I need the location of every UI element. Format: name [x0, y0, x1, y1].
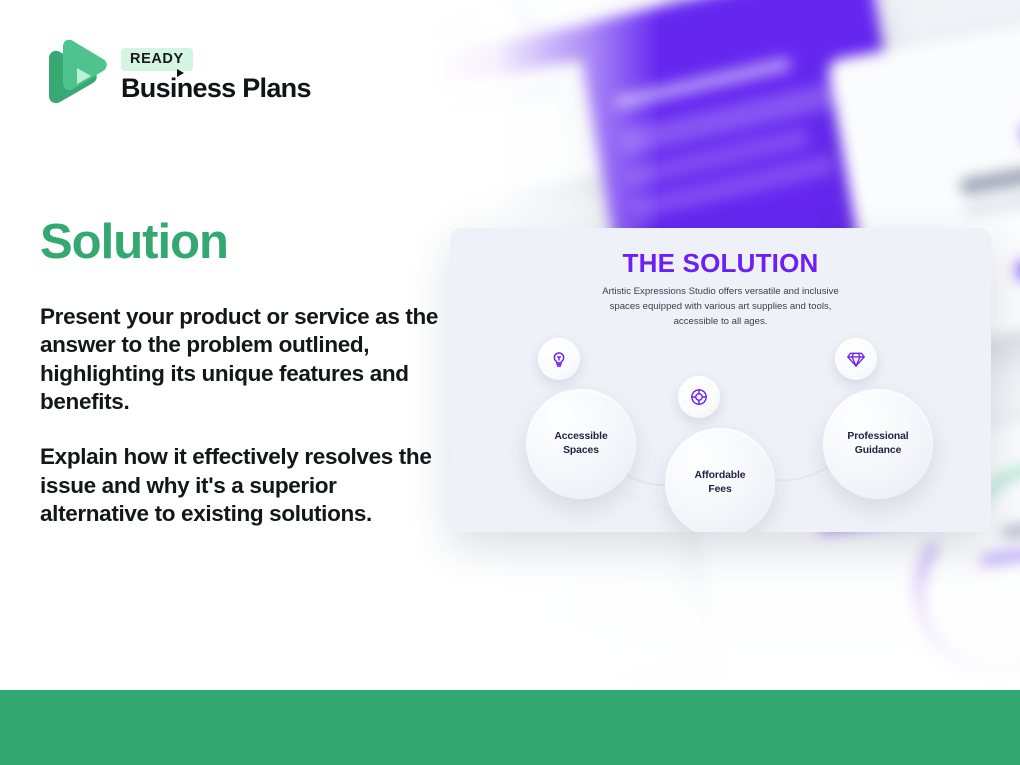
feature-icon-badge-affordable-fees — [678, 376, 720, 418]
feature-label-line-2: Fees — [708, 484, 731, 495]
feature-label-line-2: Guidance — [855, 445, 902, 456]
feature-label-line-2: Spaces — [563, 445, 599, 456]
play-triangle-accent-icon — [177, 69, 184, 77]
feature-bubble-label: Affordable Fees — [695, 469, 746, 496]
brand-wordmark: Business Plans — [121, 74, 311, 102]
play-triangles-logo-icon — [41, 38, 107, 112]
feature-label-line-1: Accessible — [554, 431, 607, 442]
solution-preview-card: THE SOLUTION Artistic Expressions Studio… — [450, 228, 991, 532]
feature-label-line-1: Affordable — [695, 470, 746, 481]
feature-bubble-label: Accessible Spaces — [554, 430, 607, 457]
brand-wordmark-text: Business Plans — [121, 73, 311, 103]
feature-bubble-affordable-fees[interactable]: Affordable Fees — [665, 428, 775, 532]
body-copy: Present your product or service as the a… — [40, 303, 440, 528]
lightbulb-icon — [549, 349, 569, 369]
ready-badge: READY — [121, 48, 193, 71]
feature-bubble-accessible-spaces[interactable]: Accessible Spaces — [526, 389, 636, 499]
presentation-slide: READY Business Plans Solution Present yo… — [0, 0, 1020, 765]
feature-bubble-professional-guidance[interactable]: Professional Guidance — [823, 389, 933, 499]
lifebuoy-icon — [689, 387, 709, 407]
page-title: Solution — [40, 214, 228, 270]
brand-logo: READY Business Plans — [41, 38, 311, 112]
feature-bubble-label: Professional Guidance — [847, 430, 908, 457]
feature-icon-badge-professional-guidance — [835, 338, 877, 380]
feature-icon-badge-accessible-spaces — [538, 338, 580, 380]
body-paragraph-1: Present your product or service as the a… — [40, 303, 440, 416]
footer-accent-bar — [0, 690, 1020, 765]
diamond-icon — [846, 349, 866, 369]
feature-label-line-1: Professional — [847, 431, 908, 442]
body-paragraph-2: Explain how it effectively resolves the … — [40, 443, 440, 528]
